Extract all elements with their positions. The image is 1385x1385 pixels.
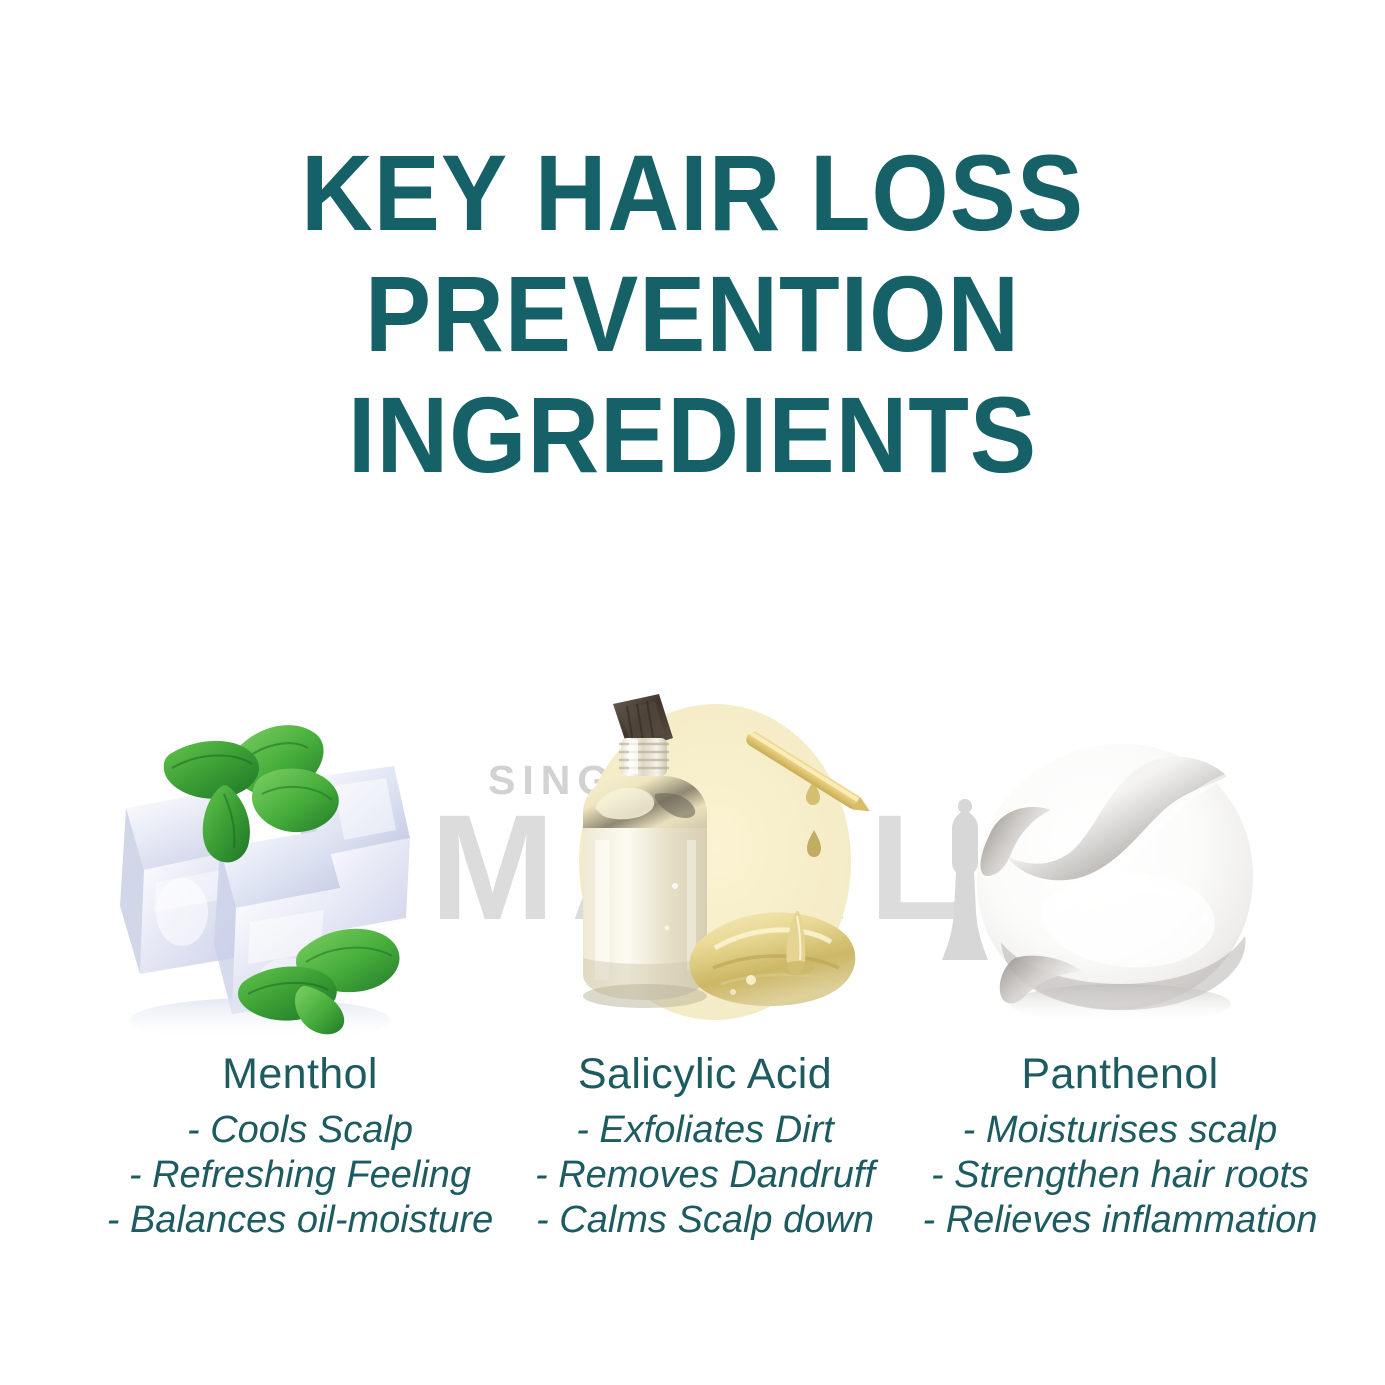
benefit-item: - Strengthen hair roots <box>890 1153 1350 1198</box>
ingredient-name: Salicylic Acid <box>470 1048 940 1100</box>
title-line-2: PREVENTION <box>55 253 1329 374</box>
ingredient-name: Panthenol <box>890 1048 1350 1100</box>
ingredient-benefits-list: - Moisturises scalp - Strengthen hair ro… <box>890 1108 1350 1243</box>
ice-cubes-mint-leaves-image <box>110 690 430 1040</box>
benefit-item: - Exfoliates Dirt <box>470 1108 940 1153</box>
ingredient-captions-row: Menthol - Cools Scalp - Refreshing Feeli… <box>0 1048 1385 1268</box>
benefit-item: - Relieves inflammation <box>890 1198 1350 1243</box>
ingredient-column-panthenol: Panthenol - Moisturises scalp - Strength… <box>890 1048 1350 1243</box>
ingredient-images-row <box>0 690 1385 1050</box>
benefit-item: - Calms Scalp down <box>470 1198 940 1243</box>
serum-bottle-dropper-image <box>555 690 875 1040</box>
benefit-item: - Removes Dandruff <box>470 1153 940 1198</box>
cream-swirl-image <box>955 690 1275 1040</box>
ingredient-infographic-poster: KEY HAIR LOSS PREVENTION INGREDIENTS SIN… <box>0 0 1385 1385</box>
page-title: KEY HAIR LOSS PREVENTION INGREDIENTS <box>0 132 1385 495</box>
ingredient-benefits-list: - Exfoliates Dirt - Removes Dandruff - C… <box>470 1108 940 1243</box>
title-line-3: INGREDIENTS <box>55 374 1329 495</box>
title-line-1: KEY HAIR LOSS <box>55 132 1329 253</box>
ingredient-column-salicylic-acid: Salicylic Acid - Exfoliates Dirt - Remov… <box>470 1048 940 1243</box>
benefit-item: - Moisturises scalp <box>890 1108 1350 1153</box>
